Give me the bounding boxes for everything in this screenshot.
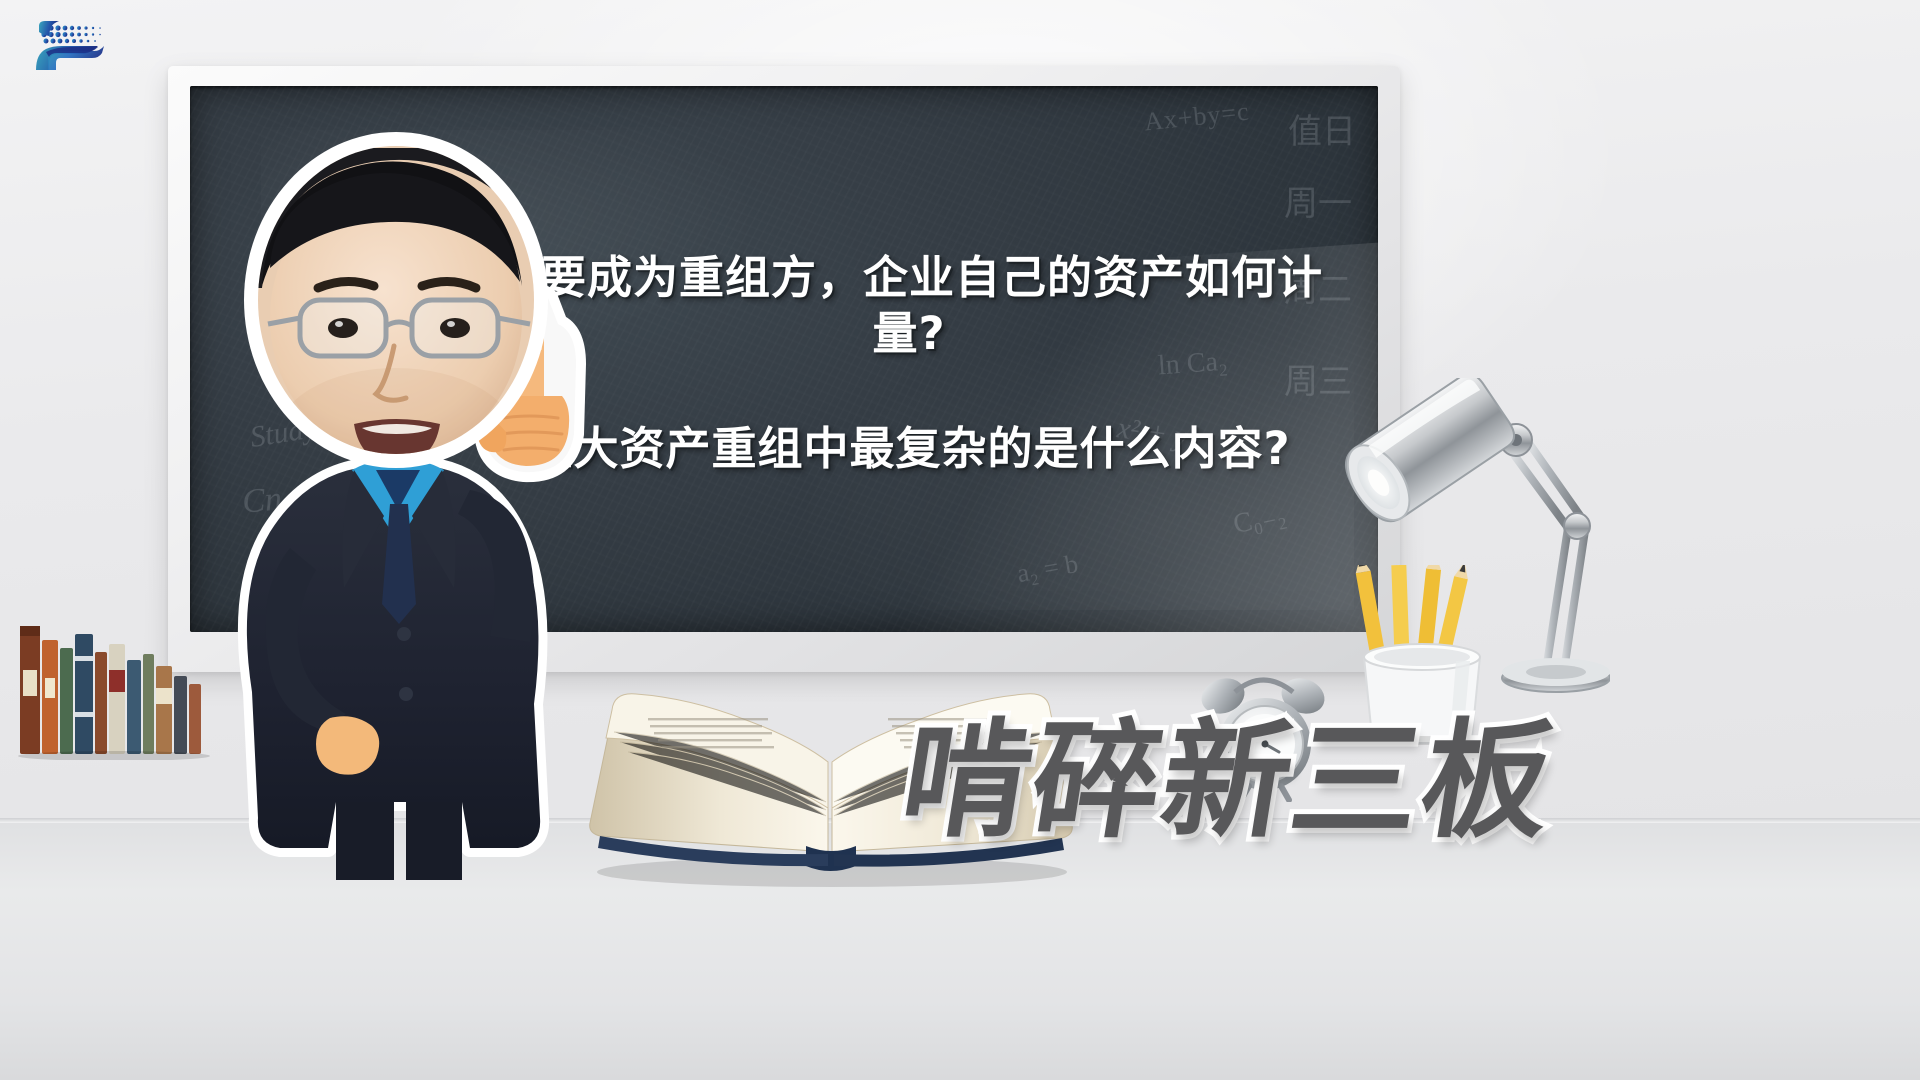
scene-stage: Ax+by=c 值日 周一 周二 周三 ln Ca₂ x² + y Study … [0,0,1920,1080]
show-title-text: 啃碎新三板 [893,718,1563,846]
show-title: 啃碎新三板 [883,690,1918,910]
brand-logo[interactable] [22,12,130,74]
presenter-cutout [140,118,620,880]
